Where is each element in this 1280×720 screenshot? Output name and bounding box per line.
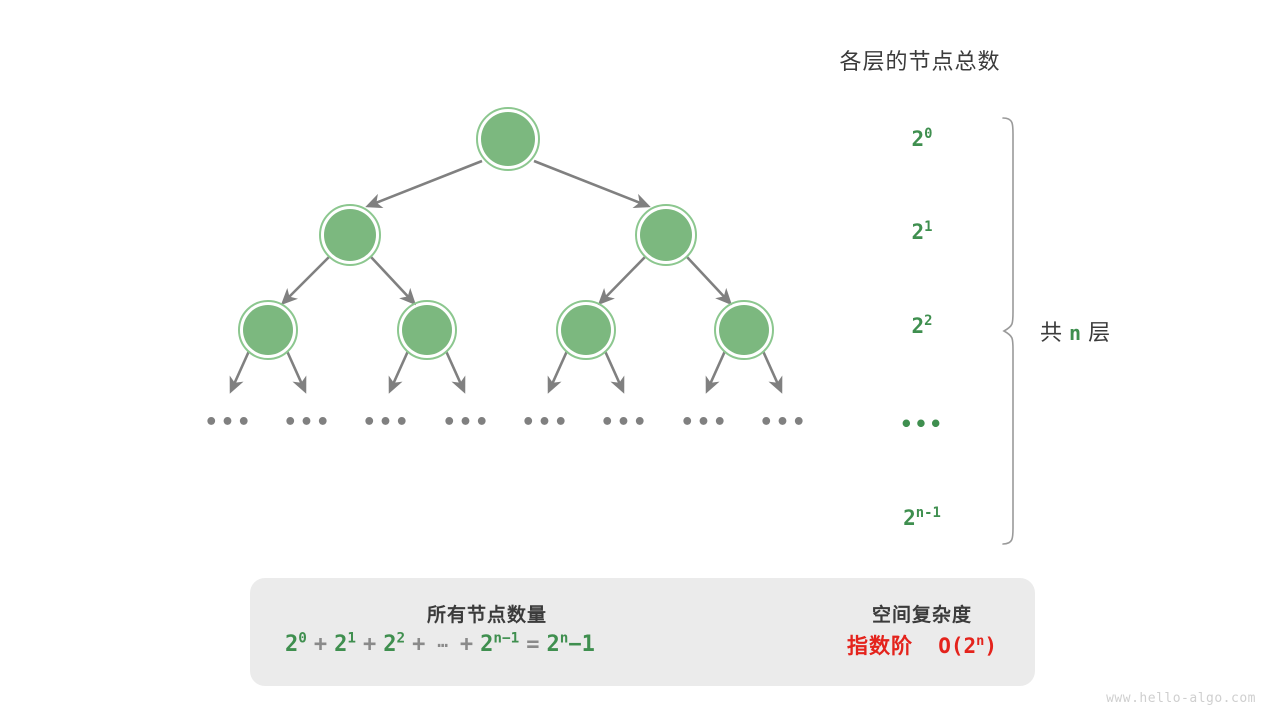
total-layers-prefix: 共 (1040, 321, 1063, 346)
space-complexity-caption: 空间复杂度 (872, 600, 972, 627)
leaf-dots-2: ••• (284, 412, 333, 434)
leaf-dots-8: ••• (760, 412, 809, 434)
all-nodes-caption: 所有节点数量 (427, 600, 547, 627)
level-label-1-base: 2 (911, 220, 924, 244)
tree-node-root (477, 108, 539, 170)
total-layers-suffix: 层 (1088, 321, 1111, 346)
complexity-value: 指数阶 O(2n) (847, 636, 997, 657)
level-label-last: 2n-1 (852, 508, 992, 529)
tree-node-level3-4 (715, 301, 773, 359)
diagram-canvas: 各层的节点总数 20 21 22 ••• 2n-1 共n层 ••• ••• ••… (0, 0, 1280, 720)
tree-edges-level1 (368, 161, 648, 206)
total-layers-label: 共n层 (1040, 315, 1111, 347)
tree-node-level2-left (320, 205, 380, 265)
level-label-1-exp: 1 (924, 219, 932, 235)
watermark: www.hello-algo.com (1106, 691, 1256, 706)
formula-plus-2: + (356, 632, 383, 657)
level-label-2: 22 (852, 316, 992, 337)
column-title: 各层的节点总数 (770, 44, 1070, 76)
leaf-dots-5: ••• (522, 412, 571, 434)
formula-term-2: 21 (334, 632, 356, 657)
level-label-1: 21 (852, 222, 992, 243)
leaf-dots-4: ••• (443, 412, 492, 434)
level-label-2-base: 2 (911, 314, 924, 338)
level-label-0: 20 (852, 129, 992, 150)
total-layers-variable: n (1063, 321, 1088, 345)
tree-edges-level3 (231, 351, 781, 391)
formula-result: 2n−1 (547, 632, 595, 657)
level-label-last-exp: n-1 (916, 505, 941, 521)
formula-ellipsis: ⋯ (432, 636, 453, 656)
formula-plus-1: + (307, 632, 334, 657)
leaf-dots-7: ••• (681, 412, 730, 434)
formula-term-3: 22 (383, 632, 405, 657)
leaf-dots-1: ••• (205, 412, 254, 434)
tree-node-level3-2 (398, 301, 456, 359)
tree-node-level3-1 (239, 301, 297, 359)
formula-term-last: 2n−1 (480, 632, 519, 657)
node-count-formula: 20+21+22+⋯+2n−1=2n−1 (285, 634, 595, 656)
level-label-ellipsis: ••• (852, 412, 992, 436)
complexity-notation: O(2n) (938, 634, 997, 658)
formula-plus-3: + (405, 632, 432, 657)
formula-equals: = (519, 632, 546, 657)
level-label-last-base: 2 (903, 506, 916, 530)
level-label-2-exp: 2 (924, 313, 932, 329)
formula-term-1: 20 (285, 632, 307, 657)
formula-plus-4: + (453, 632, 480, 657)
leaf-dots-3: ••• (363, 412, 412, 434)
level-label-0-base: 2 (911, 127, 924, 151)
layers-brace (1003, 118, 1013, 544)
leaf-dots-6: ••• (601, 412, 650, 434)
tree-node-level2-right (636, 205, 696, 265)
level-label-0-exp: 0 (924, 126, 932, 142)
complexity-label: 指数阶 (847, 634, 913, 658)
tree-node-level3-3 (557, 301, 615, 359)
